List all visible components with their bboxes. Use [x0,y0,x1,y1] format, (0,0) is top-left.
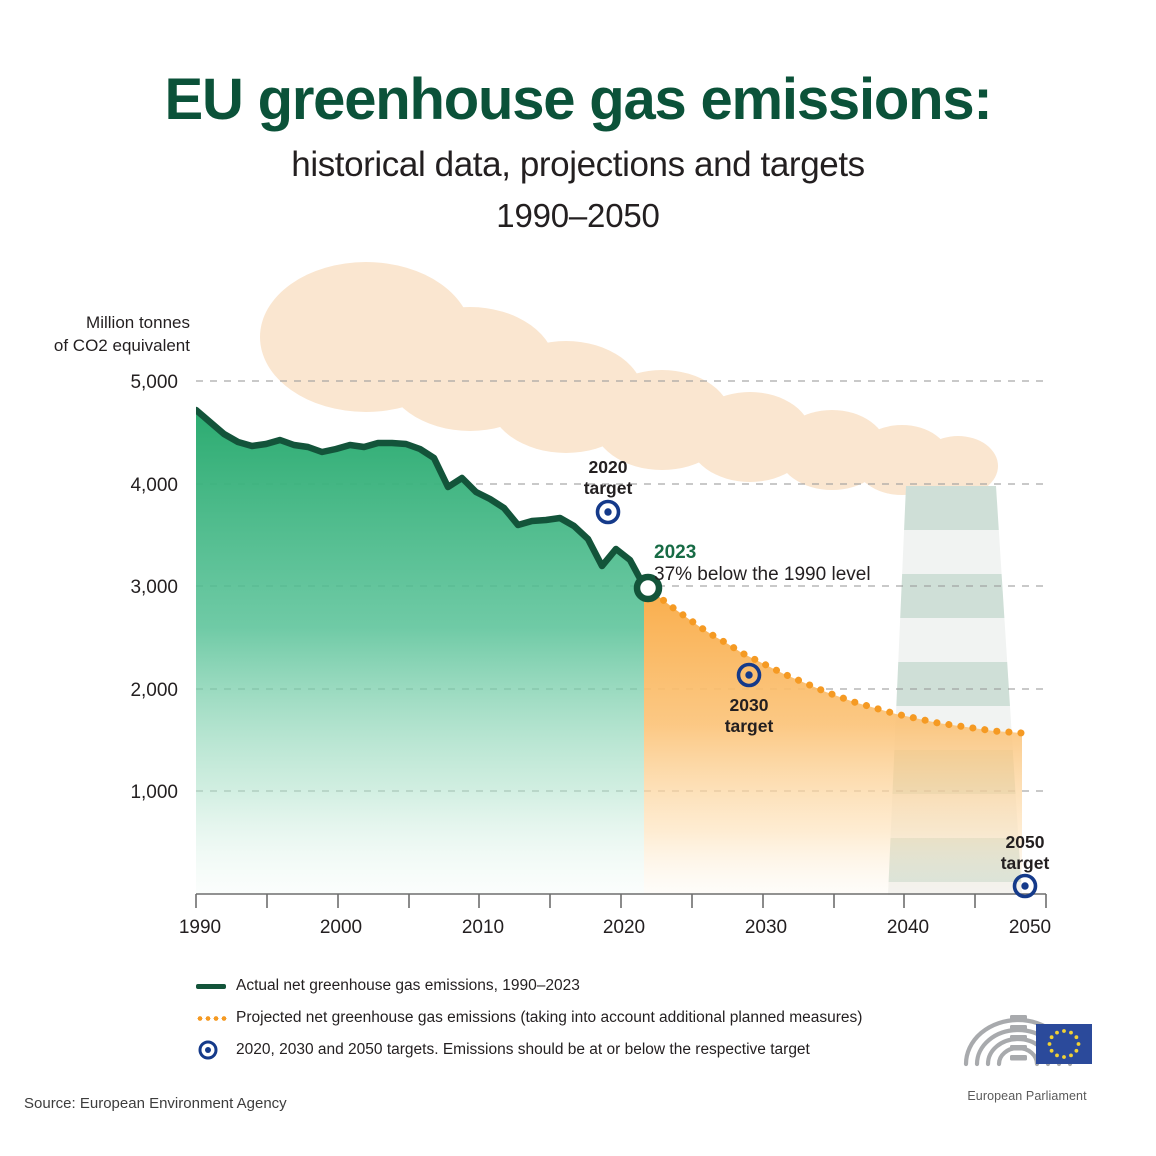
legend-label-targets: 2020, 2030 and 2050 targets. Emissions s… [236,1041,810,1059]
source-note: Source: European Environment Agency [24,1095,287,1112]
target-label-2050-line1: 2050 [1006,832,1045,852]
ep-hemicycle-icon [952,1000,1102,1082]
x-tick-2040: 2040 [887,917,929,938]
y-tick-2000: 2,000 [130,680,178,701]
target-label-2030-line2: target [725,716,774,736]
x-axis [196,894,1046,908]
y-tick-5000: 5,000 [130,372,178,393]
y-axis-tick-labels: 5,000 4,000 3,000 2,000 1,000 [130,372,178,803]
x-tick-1990: 1990 [179,917,221,938]
x-tick-2050: 2050 [1009,917,1051,938]
target-label-2020-line1: 2020 [589,457,628,477]
historical-area [196,410,644,894]
european-parliament-logo: European Parliament [952,1000,1102,1103]
chart-legend: Actual net greenhouse gas emissions, 199… [196,972,956,1068]
x-tick-2000: 2000 [320,917,362,938]
y-tick-4000: 4,000 [130,475,178,496]
x-tick-2010: 2010 [462,917,504,938]
solid-line-icon [196,984,236,989]
target-label-2020-line2: target [584,478,633,498]
legend-label-actual: Actual net greenhouse gas emissions, 199… [236,977,580,995]
legend-item-actual: Actual net greenhouse gas emissions, 199… [196,972,956,1000]
target-label-2030-line1: 2030 [730,695,769,715]
target-icon [196,1038,236,1062]
dotted-line-icon [196,1016,236,1021]
y-tick-1000: 1,000 [130,782,178,803]
ep-logo-caption: European Parliament [952,1089,1102,1103]
target-label-2030: 2030 target [725,695,774,736]
historical-series [196,410,644,894]
y-tick-3000: 3,000 [130,577,178,598]
x-tick-2030: 2030 [745,917,787,938]
x-tick-2020: 2020 [603,917,645,938]
callout-2023-text: 37% below the 1990 level [654,564,871,585]
target-label-2050-line2: target [1001,853,1050,873]
target-label-2050: 2050 target [1001,832,1050,873]
callout-2023-year: 2023 [654,542,696,563]
legend-item-targets: 2020, 2030 and 2050 targets. Emissions s… [196,1036,956,1064]
legend-item-projected: Projected net greenhouse gas emissions (… [196,1004,956,1032]
target-label-2020: 2020 target [584,457,633,498]
infographic-root: EU greenhouse gas emissions: historical … [0,0,1156,1156]
x-axis-tick-labels: 1990 2000 2010 2020 2030 2040 2050 [179,917,1051,938]
legend-label-projected: Projected net greenhouse gas emissions (… [236,1009,862,1027]
target-marker-2020 [598,502,619,523]
